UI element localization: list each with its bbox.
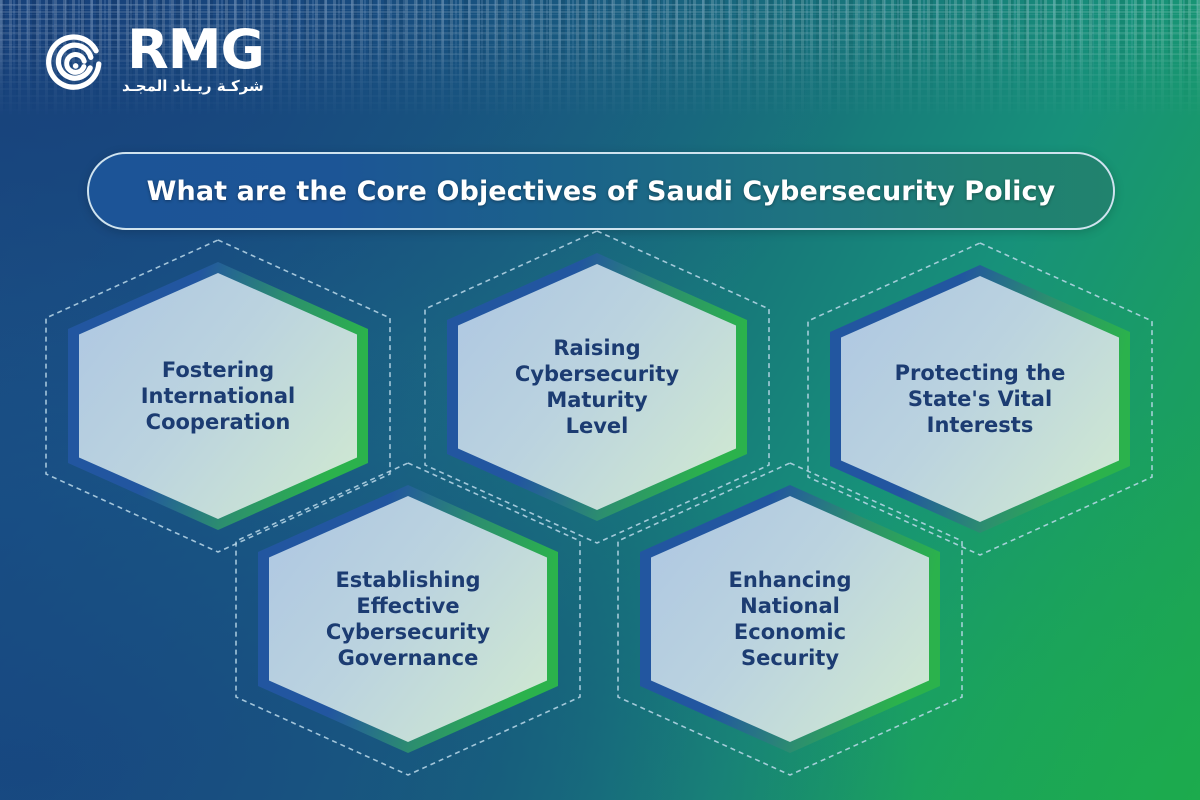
hexagon-shape xyxy=(232,459,584,779)
page-title: What are the Core Objectives of Saudi Cy… xyxy=(147,176,1056,207)
brand-logo[interactable]: RMG شركـة ريـناد المجـد xyxy=(42,24,264,95)
hexagon-shape xyxy=(614,459,966,779)
infographic-canvas: RMG شركـة ريـناد المجـد What are the Cor… xyxy=(0,0,1200,800)
title-banner: What are the Core Objectives of Saudi Cy… xyxy=(87,152,1115,230)
brand-arabic-name: شركـة ريـناد المجـد xyxy=(122,77,264,95)
brand-wordmark: RMG xyxy=(127,24,264,75)
rmg-spiral-logo-icon xyxy=(42,27,108,93)
hexagon-enhancing-national-economic-security[interactable]: EnhancingNationalEconomicSecurity xyxy=(640,485,940,753)
hexagon-establishing-effective-cybersecurity-governance[interactable]: EstablishingEffectiveCybersecurityGovern… xyxy=(258,485,558,753)
